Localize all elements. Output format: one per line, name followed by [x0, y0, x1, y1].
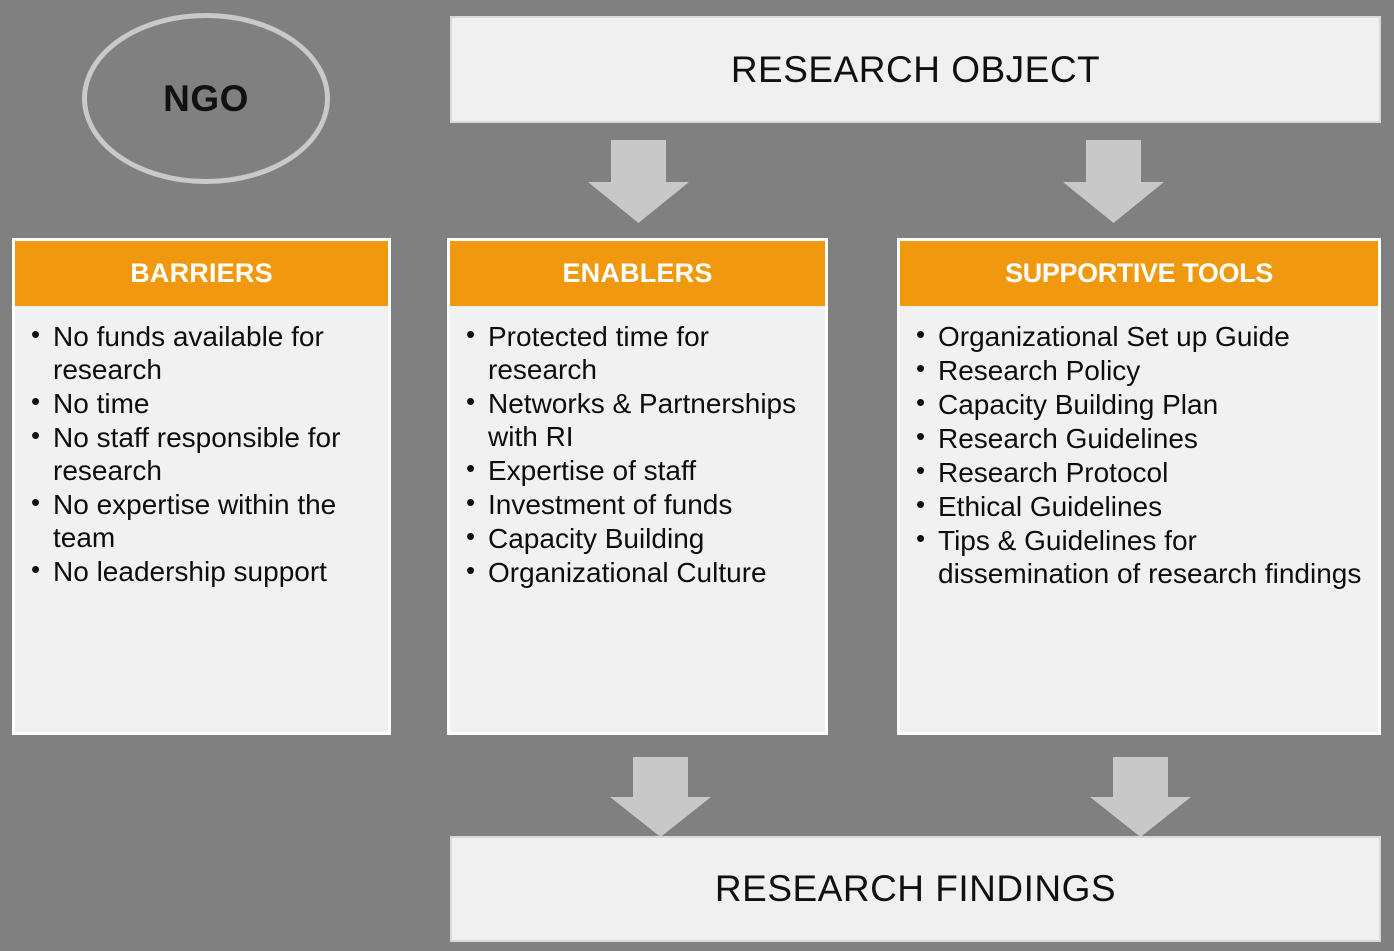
panel-barriers-header: BARRIERS — [15, 241, 388, 306]
list-item: Organizational Culture — [458, 556, 817, 589]
panel-enablers: ENABLERS Protected time for research Net… — [447, 238, 828, 735]
enablers-list: Protected time for research Networks & P… — [458, 320, 817, 589]
list-item: Networks & Partnerships with RI — [458, 387, 817, 453]
list-item: No time — [23, 387, 380, 420]
panel-enablers-body: Protected time for research Networks & P… — [450, 306, 825, 732]
research-object-box: RESEARCH OBJECT — [450, 16, 1381, 123]
list-item: Organizational Set up Guide — [908, 320, 1370, 353]
list-item: Tips & Guidelines for dissemination of r… — [908, 524, 1370, 590]
list-item: Protected time for research — [458, 320, 817, 386]
list-item: Research Guidelines — [908, 422, 1370, 455]
panel-barriers-body: No funds available for research No time … — [15, 306, 388, 732]
list-item: Capacity Building — [458, 522, 817, 555]
ngo-label: NGO — [163, 78, 249, 120]
list-item: Ethical Guidelines — [908, 490, 1370, 523]
panel-barriers: BARRIERS No funds available for research… — [12, 238, 391, 735]
list-item: No funds available for research — [23, 320, 380, 386]
barriers-list: No funds available for research No time … — [23, 320, 380, 588]
arrow-down-icon-object-to-enablers — [588, 140, 689, 223]
panel-enablers-header: ENABLERS — [450, 241, 825, 306]
list-item: Research Protocol — [908, 456, 1370, 489]
panel-supportive-tools: SUPPORTIVE TOOLS Organizational Set up G… — [897, 238, 1381, 735]
arrow-down-icon-object-to-tools — [1063, 140, 1164, 223]
list-item: Research Policy — [908, 354, 1370, 387]
list-item: Investment of funds — [458, 488, 817, 521]
arrow-down-icon-tools-to-findings — [1090, 757, 1191, 837]
list-item: No leadership support — [23, 555, 380, 588]
supportive-tools-list: Organizational Set up Guide Research Pol… — [908, 320, 1370, 590]
research-findings-box: RESEARCH FINDINGS — [450, 836, 1381, 942]
list-item: Expertise of staff — [458, 454, 817, 487]
research-findings-label: RESEARCH FINDINGS — [715, 868, 1116, 910]
panel-supportive-tools-body: Organizational Set up Guide Research Pol… — [900, 306, 1378, 732]
diagram-canvas: NGO RESEARCH OBJECT BARRIERS No funds av… — [0, 0, 1394, 951]
arrow-down-icon-enablers-to-findings — [610, 757, 711, 837]
panel-supportive-tools-header: SUPPORTIVE TOOLS — [900, 241, 1378, 306]
ngo-ellipse: NGO — [82, 13, 330, 184]
list-item: No expertise within the team — [23, 488, 380, 554]
list-item: No staff responsible for research — [23, 421, 380, 487]
list-item: Capacity Building Plan — [908, 388, 1370, 421]
research-object-label: RESEARCH OBJECT — [731, 49, 1100, 91]
